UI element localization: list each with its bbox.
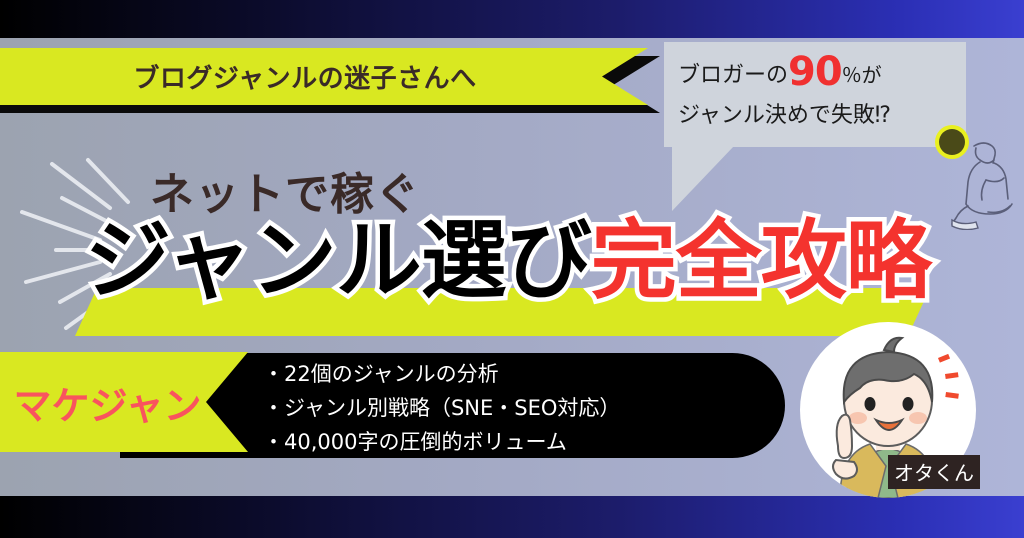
bubble-line-2: ジャンル決めで失敗⁉: [678, 96, 954, 136]
top-gradient-bar: [0, 0, 1024, 38]
bubble-suffix: ％が: [842, 63, 882, 87]
bottom-gradient-bar: [0, 496, 1024, 538]
avatar-name-label: オタくん: [888, 455, 980, 489]
bubble-prefix: ブロガーの: [678, 63, 788, 88]
brand-badge-label: マケジャン: [0, 352, 215, 452]
sad-person-icon: [928, 120, 1024, 230]
promo-banner: ブログジャンルの迷子さんへ ブロガーの90％が ジャンル決めで失敗⁉ ネットで稼…: [0, 0, 1024, 538]
speech-bubble-tail: [672, 146, 734, 211]
ribbon-header: ブログジャンルの迷子さんへ: [0, 48, 660, 108]
speech-bubble-text: ブロガーの90％が ジャンル決めで失敗⁉: [664, 42, 966, 147]
list-item: ・ジャンル別戦略（SNE・SEO対応）: [263, 391, 620, 425]
main-title-black: ジャンル選び: [85, 211, 591, 311]
main-title-red: 完全攻略: [591, 211, 931, 311]
list-item: ・22個のジャンルの分析: [263, 357, 620, 391]
feature-list: ・22個のジャンルの分析 ・ジャンル別戦略（SNE・SEO対応） ・40,000…: [263, 357, 620, 459]
bubble-line-1: ブロガーの90％が: [678, 52, 954, 96]
list-item: ・40,000字の圧倒的ボリューム: [263, 425, 620, 459]
bubble-highlight-number: 90: [788, 49, 842, 95]
main-title: ジャンル選び完全攻略: [85, 218, 931, 304]
ribbon-label: ブログジャンルの迷子さんへ: [0, 48, 610, 105]
